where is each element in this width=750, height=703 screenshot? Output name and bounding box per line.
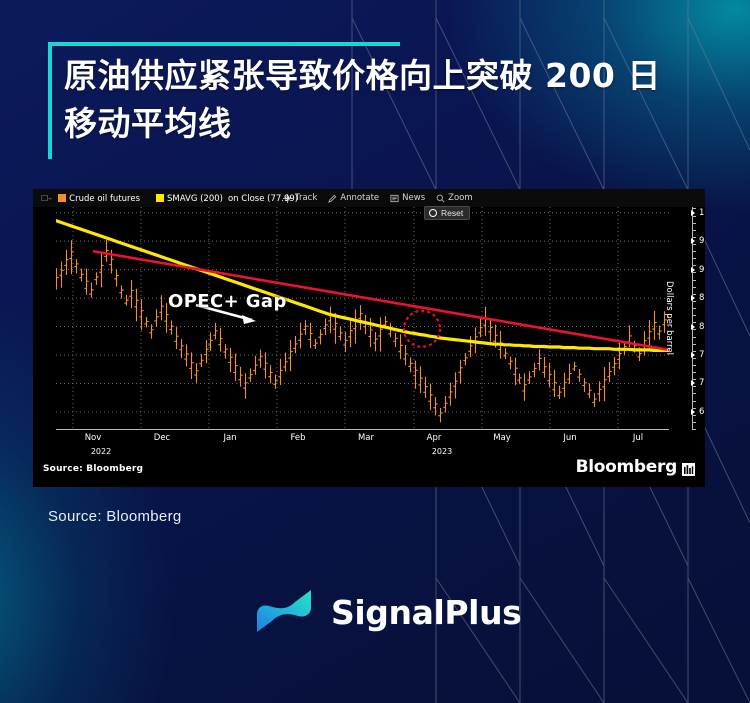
reset-label: Reset bbox=[441, 208, 463, 218]
y-axis-minor-tick bbox=[692, 223, 696, 224]
x-axis-tick-label: Jan bbox=[223, 433, 236, 443]
legend-label-smavg-suffix: on Close (77.99) bbox=[228, 194, 298, 204]
chart-annotation-text: OPEC+ Gap bbox=[168, 291, 287, 312]
bloomberg-chart-panel: ☐– Crude oil futures SMAVG (200) on Clos… bbox=[33, 189, 705, 487]
y-axis-tick-label: 70 bbox=[699, 378, 705, 388]
magnifier-icon bbox=[436, 194, 445, 203]
y-axis-minor-tick bbox=[692, 379, 696, 380]
x-axis-tick-label: Feb bbox=[290, 433, 305, 443]
signalplus-wordmark: SignalPlus bbox=[331, 593, 521, 632]
chart-toolbar-actions: Track Annotate News Zoom bbox=[283, 191, 473, 205]
series-color-swatch-smavg bbox=[156, 194, 164, 202]
news-label: News bbox=[402, 193, 425, 203]
zoom-button[interactable]: Zoom bbox=[436, 193, 473, 203]
y-axis-tick-label: 100 bbox=[699, 208, 705, 218]
y-axis-tick-label: 85 bbox=[699, 293, 705, 303]
bloomberg-logo-icon bbox=[682, 461, 695, 474]
chart-footer-source: Source: Bloomberg bbox=[43, 464, 143, 474]
y-axis-minor-tick bbox=[692, 329, 696, 330]
chart-plot-area bbox=[56, 207, 669, 429]
y-axis-minor-tick bbox=[692, 272, 696, 273]
y-axis-minor-tick bbox=[692, 393, 696, 394]
reset-button[interactable]: Reset bbox=[424, 206, 470, 220]
legend-label-crude: Crude oil futures bbox=[69, 194, 140, 204]
y-axis-minor-tick bbox=[692, 344, 696, 345]
x-axis-tick-label: May bbox=[493, 433, 511, 443]
y-axis-tick-label: 75 bbox=[699, 350, 705, 360]
track-label: Track bbox=[295, 193, 317, 203]
pin-icon[interactable]: ☐– bbox=[41, 194, 52, 203]
y-axis-minor-tick bbox=[692, 358, 696, 359]
x-axis-tick-label: Mar bbox=[358, 433, 374, 443]
y-axis-minor-tick bbox=[692, 216, 696, 217]
brand-logo: SignalPlus bbox=[253, 588, 521, 636]
y-axis-minor-tick bbox=[692, 287, 696, 288]
y-axis-minor-tick bbox=[692, 280, 696, 281]
bloomberg-wordmark: Bloomberg bbox=[576, 457, 677, 477]
y-axis-label: Dollars per barrel bbox=[664, 281, 674, 355]
y-axis-minor-tick bbox=[692, 322, 696, 323]
newspaper-icon bbox=[390, 194, 399, 203]
y-axis-minor-tick bbox=[692, 429, 696, 430]
x-axis-year-label: 2022 bbox=[91, 447, 111, 456]
x-axis-tick-label: Nov bbox=[85, 433, 102, 443]
y-axis-minor-tick bbox=[692, 351, 696, 352]
y-axis-minor-tick bbox=[692, 251, 696, 252]
news-button[interactable]: News bbox=[390, 193, 425, 203]
y-axis-tick-label: 95 bbox=[699, 236, 705, 246]
y-axis-minor-tick bbox=[692, 230, 696, 231]
y-axis-tick-label: 65 bbox=[699, 407, 705, 417]
y-axis-minor-tick bbox=[692, 422, 696, 423]
y-axis: 10095908580757065 Dollars per barrel bbox=[669, 207, 705, 429]
y-axis-minor-tick bbox=[692, 208, 696, 209]
signalplus-mark-icon bbox=[253, 588, 317, 636]
y-axis-minor-tick bbox=[692, 237, 696, 238]
bloomberg-brand: Bloomberg bbox=[576, 457, 695, 477]
x-axis-tick-label: Jul bbox=[633, 433, 643, 443]
y-axis-tick-label: 90 bbox=[699, 265, 705, 275]
y-axis-minor-tick bbox=[692, 308, 696, 309]
y-axis-minor-tick bbox=[692, 301, 696, 302]
chart-legend: ☐– Crude oil futures SMAVG (200) on Clos… bbox=[41, 192, 298, 205]
legend-label-smavg: SMAVG (200) bbox=[167, 194, 223, 204]
annotate-label: Annotate bbox=[340, 193, 379, 203]
page-title: 原油供应紧张导致价格向上突破 200 日移动平均线 bbox=[64, 52, 684, 148]
y-axis-tick-label: 80 bbox=[699, 322, 705, 332]
poster-root: 原油供应紧张导致价格向上突破 200 日移动平均线 ☐– Crude oil f… bbox=[0, 0, 750, 703]
x-axis-spine bbox=[56, 429, 669, 430]
x-axis-tick-label: Dec bbox=[154, 433, 170, 443]
bottom-source-text: Source: Bloomberg bbox=[48, 508, 182, 525]
x-axis-year-label: 2023 bbox=[432, 447, 452, 456]
y-axis-minor-tick bbox=[692, 408, 696, 409]
y-axis-minor-tick bbox=[692, 265, 696, 266]
y-axis-minor-tick bbox=[692, 294, 696, 295]
y-axis-minor-tick bbox=[692, 415, 696, 416]
series-color-swatch-crude bbox=[58, 194, 66, 202]
y-axis-minor-tick bbox=[692, 258, 696, 259]
y-axis-minor-tick bbox=[692, 372, 696, 373]
y-axis-minor-tick bbox=[692, 337, 696, 338]
x-axis-tick-label: Apr bbox=[427, 433, 442, 443]
y-axis-minor-tick bbox=[692, 365, 696, 366]
zoom-label: Zoom bbox=[448, 193, 473, 203]
record-dot-icon bbox=[429, 209, 437, 217]
x-axis-tick-label: Jun bbox=[563, 433, 576, 443]
y-axis-minor-tick bbox=[692, 386, 696, 387]
y-axis-minor-tick bbox=[692, 315, 696, 316]
annotate-button[interactable]: Annotate bbox=[328, 193, 379, 203]
y-axis-minor-tick bbox=[692, 401, 696, 402]
y-axis-minor-tick bbox=[692, 244, 696, 245]
pencil-icon bbox=[328, 194, 337, 203]
